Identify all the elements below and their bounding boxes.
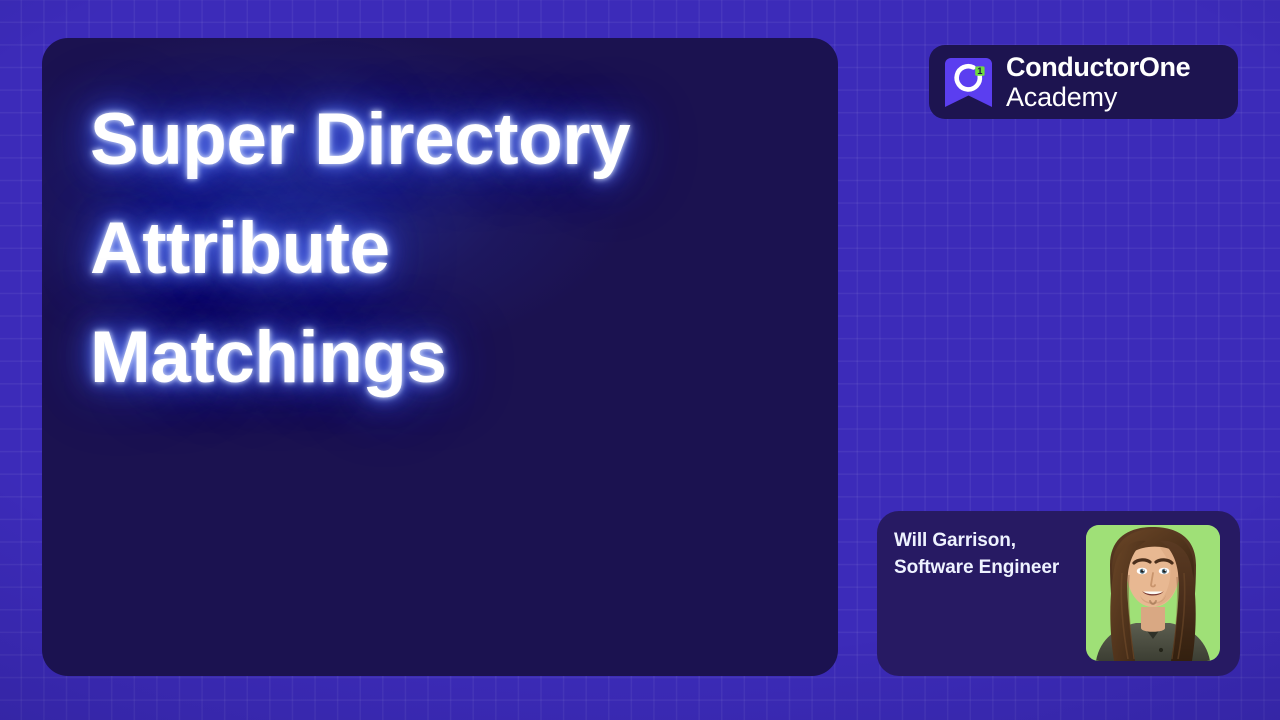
speaker-avatar xyxy=(1086,525,1220,661)
title-card: Super Directory Attribute Matchings xyxy=(42,38,838,676)
page-title: Super Directory Attribute Matchings xyxy=(90,86,770,412)
conductorone-logo-icon: 1 xyxy=(945,58,992,107)
brand-logo-card: 1 ConductorOne Academy xyxy=(929,45,1238,119)
svg-text:1: 1 xyxy=(977,65,982,76)
speaker-card: Will Garrison, Software Engineer xyxy=(877,511,1240,676)
brand-wordmark: ConductorOne Academy xyxy=(1006,52,1190,113)
speaker-headshot-illustration xyxy=(1086,525,1220,661)
brand-name: ConductorOne xyxy=(1006,52,1190,83)
brand-subtitle: Academy xyxy=(1006,82,1190,113)
slide-canvas: Super Directory Attribute Matchings 1 Co… xyxy=(0,0,1280,720)
